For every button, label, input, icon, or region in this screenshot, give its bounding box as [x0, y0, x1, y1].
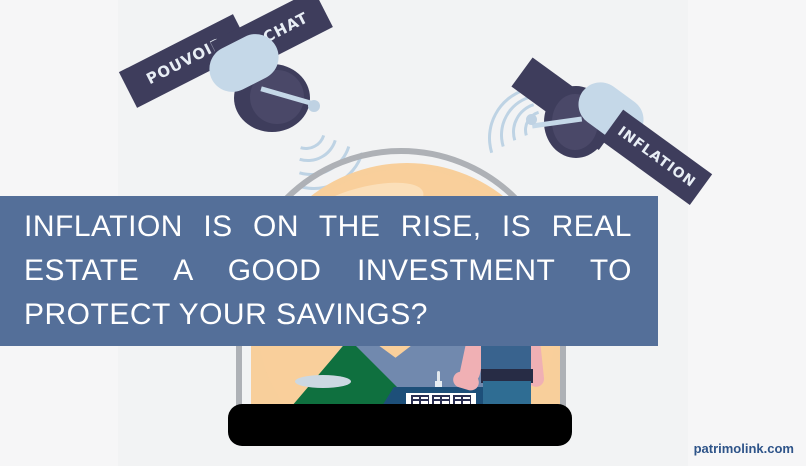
satellite-left: POUVOIR D'ACHAT [130, 8, 320, 138]
antenna-tip [308, 100, 320, 112]
poster-title: INFLATION IS ON THE RISE, IS REAL ESTATE… [0, 205, 658, 337]
site-watermark: patrimolink.com [694, 441, 794, 456]
globe-base [228, 404, 572, 446]
cloud [295, 375, 351, 388]
antenna-tip [526, 114, 537, 125]
poster-canvas: POUVOIR D'ACHAT INFLATION INFLATION IS O… [0, 0, 806, 466]
background-band-right [688, 0, 806, 466]
title-banner: INFLATION IS ON THE RISE, IS REAL ESTATE… [0, 196, 658, 346]
satellite-right: INFLATION [516, 48, 686, 178]
